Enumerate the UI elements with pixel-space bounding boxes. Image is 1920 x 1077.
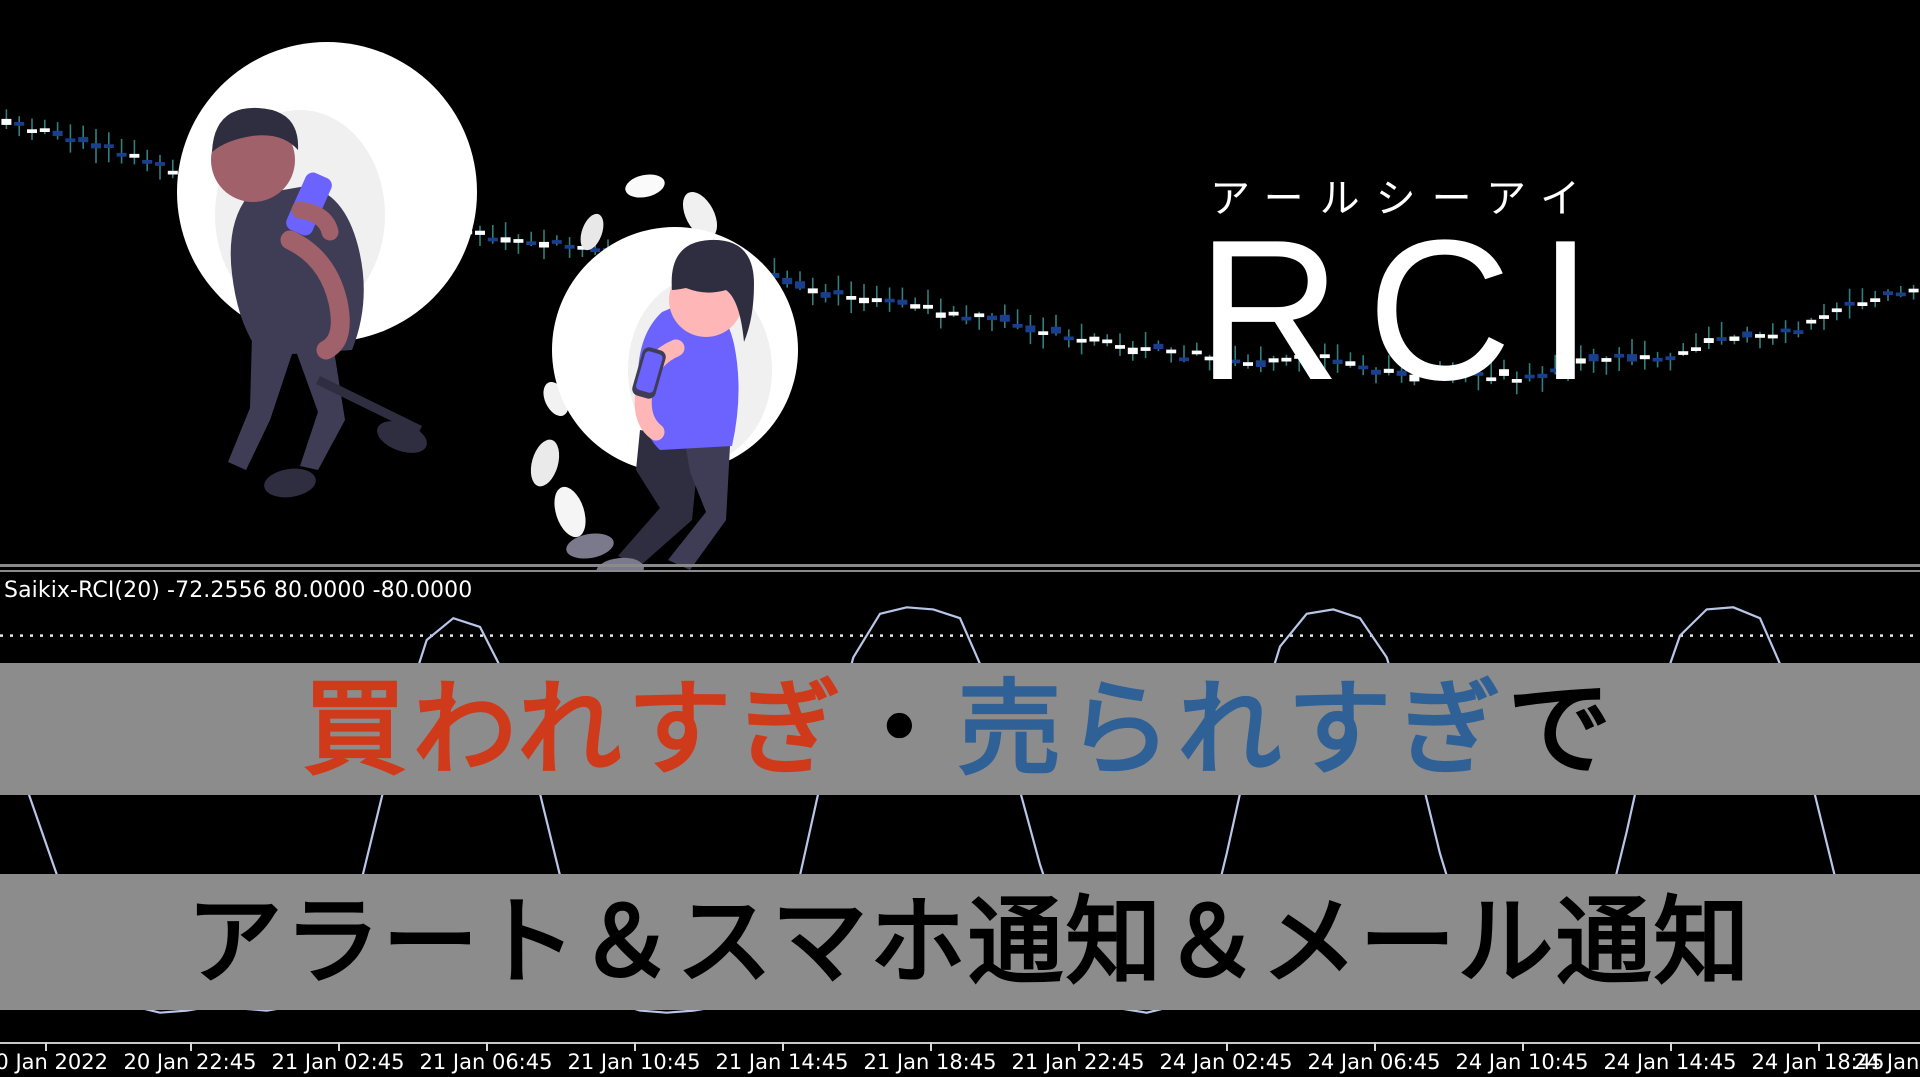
banner-segment-overbought: 買われすぎ <box>303 668 848 790</box>
time-axis-label: 21 Jan 22:45 <box>1012 1050 1145 1074</box>
banner-segment-suffix: で <box>1507 668 1617 790</box>
time-axis-label: 20 Jan 22:45 <box>124 1050 257 1074</box>
indicator-label: Saikix-RCI(20) -72.2556 80.0000 -80.0000 <box>4 578 472 603</box>
banner-line-1: 買われすぎ・売られすぎで <box>0 677 1920 781</box>
time-axis-label: 24 Jan 14:45 <box>1604 1050 1737 1074</box>
time-axis-label: 21 Jan 02:45 <box>272 1050 405 1074</box>
panel-separator-top <box>0 564 1920 567</box>
time-axis-label: 24 Jan 02:45 <box>1160 1050 1293 1074</box>
time-axis-label: 21 Jan 14:45 <box>716 1050 849 1074</box>
time-axis: 20 Jan 202220 Jan 22:4521 Jan 02:4521 Ja… <box>0 1042 1920 1077</box>
banner-segment-oversold: 売られすぎ <box>957 668 1507 790</box>
banner-segment-separator: ・ <box>847 668 957 790</box>
banner-notifications: アラート＆スマホ通知＆メール通知 <box>0 874 1920 1010</box>
time-axis-label: 21 Jan 18:45 <box>864 1050 997 1074</box>
time-axis-label: 24 Jan 06:45 <box>1308 1050 1441 1074</box>
time-axis-label: 20 Jan 2022 <box>0 1050 108 1074</box>
title-main-text: RCI <box>1130 216 1660 406</box>
person-on-circle-left <box>177 42 477 500</box>
screenshot-root: アールシーアイ RCI Saikix-RCI(20) -72.2556 80.0… <box>0 0 1920 1077</box>
banner-overbought-oversold: 買われすぎ・売られすぎで <box>0 663 1920 795</box>
time-axis-label: 21 Jan 06:45 <box>420 1050 553 1074</box>
page-title: アールシーアイ RCI <box>1130 178 1660 406</box>
person-on-circle-right <box>552 227 798 584</box>
time-axis-label: 24 Jan 10:45 <box>1456 1050 1589 1074</box>
time-axis-label: 24 Jan 22:45 <box>1854 1050 1920 1074</box>
banner-line-2: アラート＆スマホ通知＆メール通知 <box>0 894 1920 990</box>
time-axis-label: 21 Jan 10:45 <box>568 1050 701 1074</box>
